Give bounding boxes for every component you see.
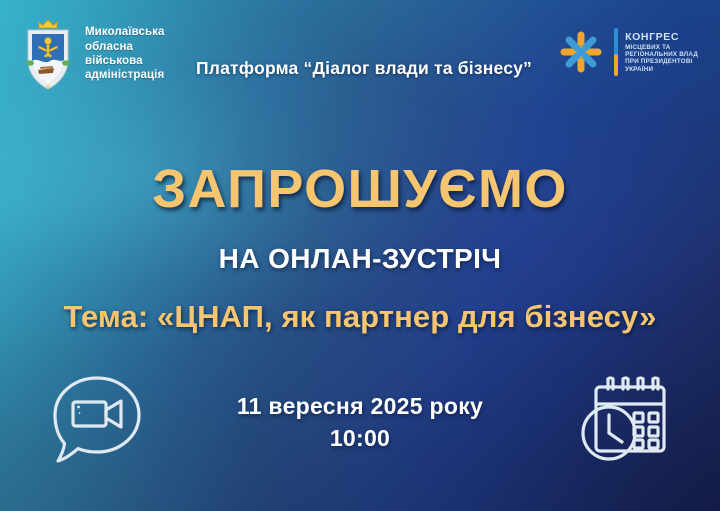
- congress-logo-block: КОНГРЕС МІСЦЕВИХ ТА РЕГІОНАЛЬНИХ ВЛАД ПР…: [555, 26, 698, 78]
- calendar-clock-icon: [576, 373, 676, 465]
- congress-accent-bar: [614, 28, 618, 76]
- oblast-administration-name: Миколаївська обласна військова адміністр…: [85, 25, 165, 83]
- oda-line-2: обласна: [85, 40, 165, 54]
- oda-line-4: адміністрація: [85, 68, 165, 82]
- oda-line-1: Миколаївська: [85, 25, 165, 39]
- congress-line-3: РЕГІОНАЛЬНИХ ВЛАД: [625, 51, 698, 58]
- congress-pinwheel-logo-icon: [555, 26, 607, 78]
- congress-line-2: МІСЦЕВИХ ТА: [625, 44, 698, 51]
- oda-line-3: військова: [85, 54, 165, 68]
- congress-line-4: ПРИ ПРЕЗИДЕНТОВІ: [625, 58, 698, 65]
- video-chat-bubble-icon: [47, 372, 147, 468]
- mykolaiv-oblast-coat-of-arms-icon: [20, 16, 76, 92]
- oblast-administration-logo-block: Миколаївська обласна військова адміністр…: [20, 16, 165, 92]
- congress-line-5: УКРАЇНИ: [625, 66, 698, 73]
- congress-line-1: КОНГРЕС: [625, 31, 698, 43]
- meeting-theme: Тема: «ЦНАП, як партнер для бізнесу»: [0, 299, 720, 335]
- platform-title: Платформа “Діалог влади та бізнесу”: [196, 58, 532, 79]
- subheadline-online-meeting: НА ОНЛАН-ЗУСТРІЧ: [0, 243, 720, 275]
- headline-invitation: ЗАПРОШУЄМО: [0, 158, 720, 220]
- invitation-poster: Миколаївська обласна військова адміністр…: [0, 0, 720, 511]
- poster-header: Миколаївська обласна військова адміністр…: [0, 0, 720, 105]
- congress-name: КОНГРЕС МІСЦЕВИХ ТА РЕГІОНАЛЬНИХ ВЛАД ПР…: [625, 31, 698, 73]
